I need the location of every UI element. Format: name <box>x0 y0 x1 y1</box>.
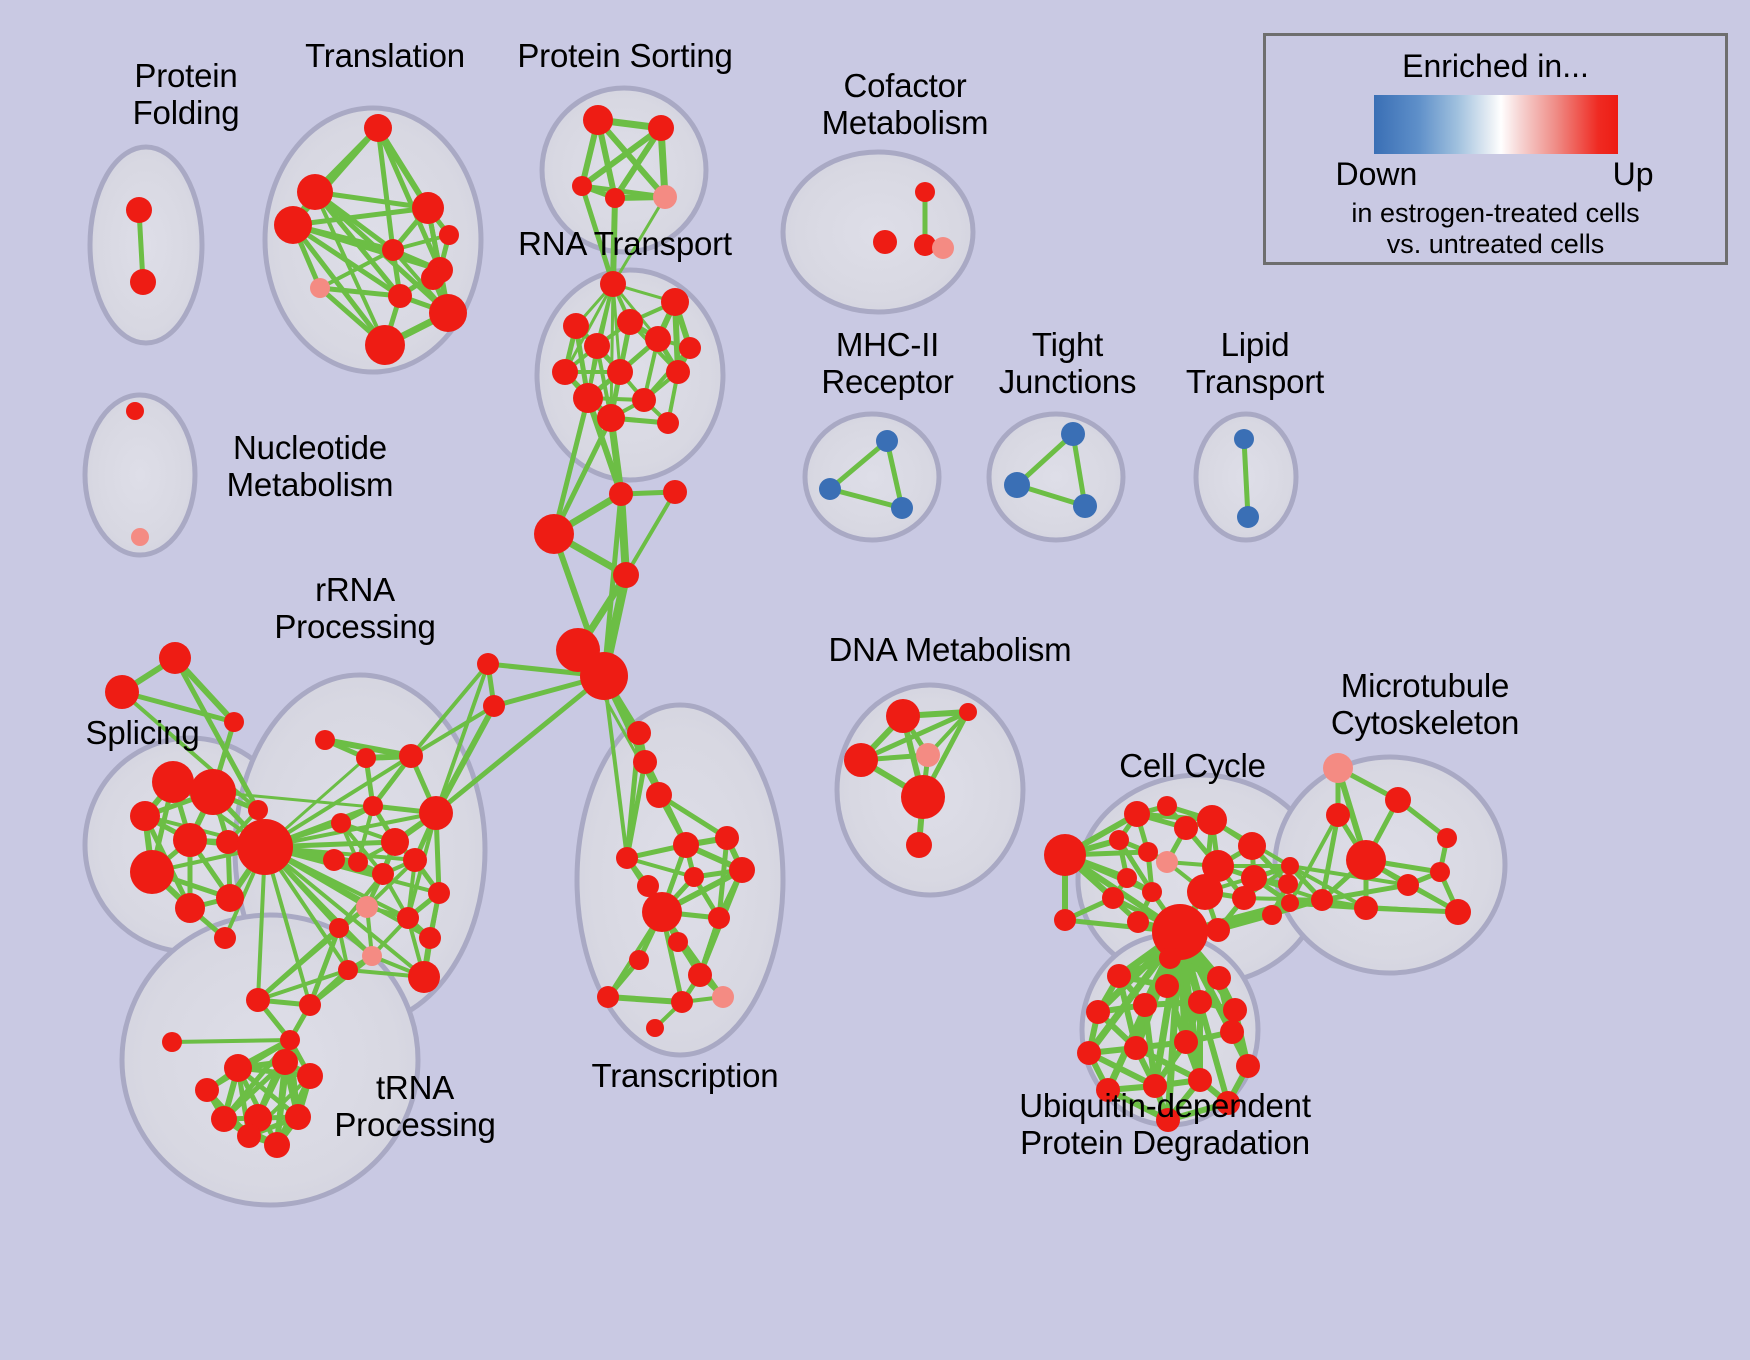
network-node[interactable] <box>906 832 932 858</box>
network-node[interactable] <box>280 1030 300 1050</box>
network-node[interactable] <box>1152 904 1208 960</box>
network-node[interactable] <box>627 721 651 745</box>
network-node[interactable] <box>348 852 368 872</box>
network-node[interactable] <box>657 412 679 434</box>
network-node[interactable] <box>688 963 712 987</box>
network-node[interactable] <box>959 703 977 721</box>
network-node[interactable] <box>1156 1108 1180 1132</box>
network-node[interactable] <box>668 932 688 952</box>
network-node[interactable] <box>211 1106 237 1132</box>
network-node[interactable] <box>873 230 897 254</box>
cluster-hull <box>783 152 973 312</box>
network-node[interactable] <box>310 278 330 298</box>
network-node[interactable] <box>130 269 156 295</box>
network-node[interactable] <box>580 652 628 700</box>
network-node[interactable] <box>915 182 935 202</box>
network-node[interactable] <box>616 847 638 869</box>
network-node[interactable] <box>1281 857 1299 875</box>
network-node[interactable] <box>708 907 730 929</box>
network-node[interactable] <box>272 1049 298 1075</box>
network-node[interactable] <box>1232 886 1256 910</box>
network-node[interactable] <box>679 337 701 359</box>
network-node[interactable] <box>605 188 625 208</box>
network-node[interactable] <box>1143 1074 1167 1098</box>
network-node[interactable] <box>1188 1068 1212 1092</box>
network-node[interactable] <box>712 986 734 1008</box>
network-node[interactable] <box>382 239 404 261</box>
network-node[interactable] <box>331 813 351 833</box>
network-node[interactable] <box>195 1078 219 1102</box>
network-node[interactable] <box>1216 1091 1240 1115</box>
network-node[interactable] <box>216 884 244 912</box>
legend-down-label: Down <box>1336 156 1418 193</box>
network-node[interactable] <box>1107 964 1131 988</box>
network-node[interactable] <box>1096 1078 1120 1102</box>
network-node[interactable] <box>572 176 592 196</box>
network-node[interactable] <box>684 867 704 887</box>
network-node[interactable] <box>633 750 657 774</box>
network-node[interactable] <box>666 360 690 384</box>
network-node[interactable] <box>285 1104 311 1130</box>
network-node[interactable] <box>819 478 841 500</box>
network-node[interactable] <box>363 796 383 816</box>
network-node[interactable] <box>617 309 643 335</box>
network-node[interactable] <box>105 675 139 709</box>
network-node[interactable] <box>1220 1020 1244 1044</box>
network-node[interactable] <box>356 748 376 768</box>
network-node[interactable] <box>216 830 240 854</box>
network-node[interactable] <box>1281 894 1299 912</box>
network-node[interactable] <box>1445 899 1471 925</box>
network-node[interactable] <box>1174 816 1198 840</box>
network-node[interactable] <box>1109 830 1129 850</box>
network-node[interactable] <box>673 832 699 858</box>
network-node[interactable] <box>534 514 574 554</box>
network-node[interactable] <box>421 266 445 290</box>
network-node[interactable] <box>1238 832 1266 860</box>
network-node[interactable] <box>671 991 693 1013</box>
network-node[interactable] <box>1223 998 1247 1022</box>
network-node[interactable] <box>408 961 440 993</box>
network-node[interactable] <box>419 796 453 830</box>
network-node[interactable] <box>1187 874 1223 910</box>
network-node[interactable] <box>584 333 610 359</box>
network-node[interactable] <box>297 1063 323 1089</box>
network-node[interactable] <box>642 892 682 932</box>
network-node[interactable] <box>1138 842 1158 862</box>
network-node[interactable] <box>1124 801 1150 827</box>
network-node[interactable] <box>607 359 633 385</box>
network-node[interactable] <box>1157 796 1177 816</box>
network-node[interactable] <box>126 402 144 420</box>
network-node[interactable] <box>1323 753 1353 783</box>
network-node[interactable] <box>886 699 920 733</box>
network-node[interactable] <box>130 850 174 894</box>
network-node[interactable] <box>428 882 450 904</box>
network-node[interactable] <box>1086 1000 1110 1024</box>
network-node[interactable] <box>1311 889 1333 911</box>
network-node[interactable] <box>876 430 898 452</box>
network-node[interactable] <box>1397 874 1419 896</box>
network-node[interactable] <box>399 744 423 768</box>
network-node[interactable] <box>1077 1041 1101 1065</box>
network-node[interactable] <box>1044 834 1086 876</box>
network-node[interactable] <box>600 271 626 297</box>
network-node[interactable] <box>1197 805 1227 835</box>
network-node[interactable] <box>338 960 358 980</box>
network-node[interactable] <box>629 950 649 970</box>
network-node[interactable] <box>609 482 633 506</box>
network-node[interactable] <box>362 946 382 966</box>
network-node[interactable] <box>190 769 236 815</box>
network-node[interactable] <box>661 288 689 316</box>
network-node[interactable] <box>645 326 671 352</box>
network-node[interactable] <box>1004 472 1030 498</box>
network-node[interactable] <box>1127 911 1149 933</box>
network-node[interactable] <box>646 1019 664 1037</box>
network-node[interactable] <box>237 819 293 875</box>
network-node[interactable] <box>1124 1036 1148 1060</box>
network-node[interactable] <box>1188 990 1212 1014</box>
network-node[interactable] <box>1159 947 1181 969</box>
network-node[interactable] <box>1142 882 1162 902</box>
network-node[interactable] <box>1156 851 1178 873</box>
network-node[interactable] <box>152 761 194 803</box>
network-node[interactable] <box>597 986 619 1008</box>
network-node[interactable] <box>224 1054 252 1082</box>
network-node[interactable] <box>597 404 625 432</box>
network-node[interactable] <box>237 1124 261 1148</box>
network-node[interactable] <box>299 994 321 1016</box>
network-node[interactable] <box>381 828 409 856</box>
network-node[interactable] <box>646 782 672 808</box>
legend-panel: Enriched in... Down Up in estrogen-treat… <box>1263 33 1728 265</box>
network-node[interactable] <box>477 653 499 675</box>
network-node[interactable] <box>1326 803 1350 827</box>
network-node[interactable] <box>1102 887 1124 909</box>
cluster-hull <box>805 414 939 540</box>
network-node[interactable] <box>1133 993 1157 1017</box>
network-node[interactable] <box>315 730 335 750</box>
network-node[interactable] <box>891 497 913 519</box>
network-node[interactable] <box>130 801 160 831</box>
network-node[interactable] <box>297 174 333 210</box>
network-node[interactable] <box>1346 840 1386 880</box>
network-node[interactable] <box>364 114 392 142</box>
network-node[interactable] <box>552 359 578 385</box>
network-node[interactable] <box>1278 874 1298 894</box>
network-node[interactable] <box>365 325 405 365</box>
network-node[interactable] <box>932 237 954 259</box>
network-node[interactable] <box>1117 868 1137 888</box>
network-node[interactable] <box>419 927 441 949</box>
network-node[interactable] <box>248 800 268 820</box>
network-node[interactable] <box>246 988 270 1012</box>
network-node[interactable] <box>214 927 236 949</box>
cluster-hull <box>90 147 202 343</box>
network-edge <box>626 492 675 575</box>
network-node[interactable] <box>372 863 394 885</box>
network-node[interactable] <box>1236 1054 1260 1078</box>
network-node[interactable] <box>224 712 244 732</box>
network-node[interactable] <box>329 918 349 938</box>
network-node[interactable] <box>1262 905 1282 925</box>
network-node[interactable] <box>323 849 345 871</box>
network-node[interactable] <box>583 105 613 135</box>
network-node[interactable] <box>439 225 459 245</box>
network-node[interactable] <box>483 695 505 717</box>
network-node[interactable] <box>632 388 656 412</box>
network-node[interactable] <box>653 185 677 209</box>
legend-endpoints: Down Up <box>1336 156 1656 196</box>
network-node[interactable] <box>563 313 589 339</box>
color-scale-bar <box>1374 95 1618 154</box>
network-node[interactable] <box>1354 896 1378 920</box>
legend-subtitle: in estrogen-treated cells vs. untreated … <box>1266 198 1725 260</box>
network-node[interactable] <box>159 642 191 674</box>
network-node[interactable] <box>1174 1030 1198 1054</box>
network-node[interactable] <box>648 115 674 141</box>
network-node[interactable] <box>844 743 878 777</box>
network-node[interactable] <box>613 562 639 588</box>
network-node[interactable] <box>274 206 312 244</box>
network-node[interactable] <box>131 528 149 546</box>
cluster-hull <box>542 88 706 252</box>
network-node[interactable] <box>1155 974 1179 998</box>
network-node[interactable] <box>1054 909 1076 931</box>
network-node[interactable] <box>715 826 739 850</box>
legend-up-label: Up <box>1613 156 1654 193</box>
network-node[interactable] <box>356 896 378 918</box>
network-node[interactable] <box>729 857 755 883</box>
network-node[interactable] <box>1437 828 1457 848</box>
network-node[interactable] <box>429 294 467 332</box>
network-node[interactable] <box>1061 422 1085 446</box>
network-node[interactable] <box>388 284 412 308</box>
network-edge <box>172 1040 290 1042</box>
network-node[interactable] <box>573 383 603 413</box>
network-node[interactable] <box>1206 918 1230 942</box>
network-node[interactable] <box>162 1032 182 1052</box>
network-node[interactable] <box>1385 787 1411 813</box>
network-node[interactable] <box>663 480 687 504</box>
network-node[interactable] <box>126 197 152 223</box>
network-node[interactable] <box>916 743 940 767</box>
network-node[interactable] <box>1073 494 1097 518</box>
network-node[interactable] <box>264 1132 290 1158</box>
network-node[interactable] <box>397 907 419 929</box>
network-node[interactable] <box>173 823 207 857</box>
network-node[interactable] <box>1430 862 1450 882</box>
network-node[interactable] <box>1237 506 1259 528</box>
network-node[interactable] <box>901 775 945 819</box>
legend-title: Enriched in... <box>1266 48 1725 85</box>
network-node[interactable] <box>175 893 205 923</box>
enrichment-map-figure: Protein FoldingTranslationProtein Sortin… <box>0 0 1750 1360</box>
network-node[interactable] <box>412 192 444 224</box>
network-node[interactable] <box>1234 429 1254 449</box>
network-node[interactable] <box>1207 966 1231 990</box>
network-node[interactable] <box>403 848 427 872</box>
